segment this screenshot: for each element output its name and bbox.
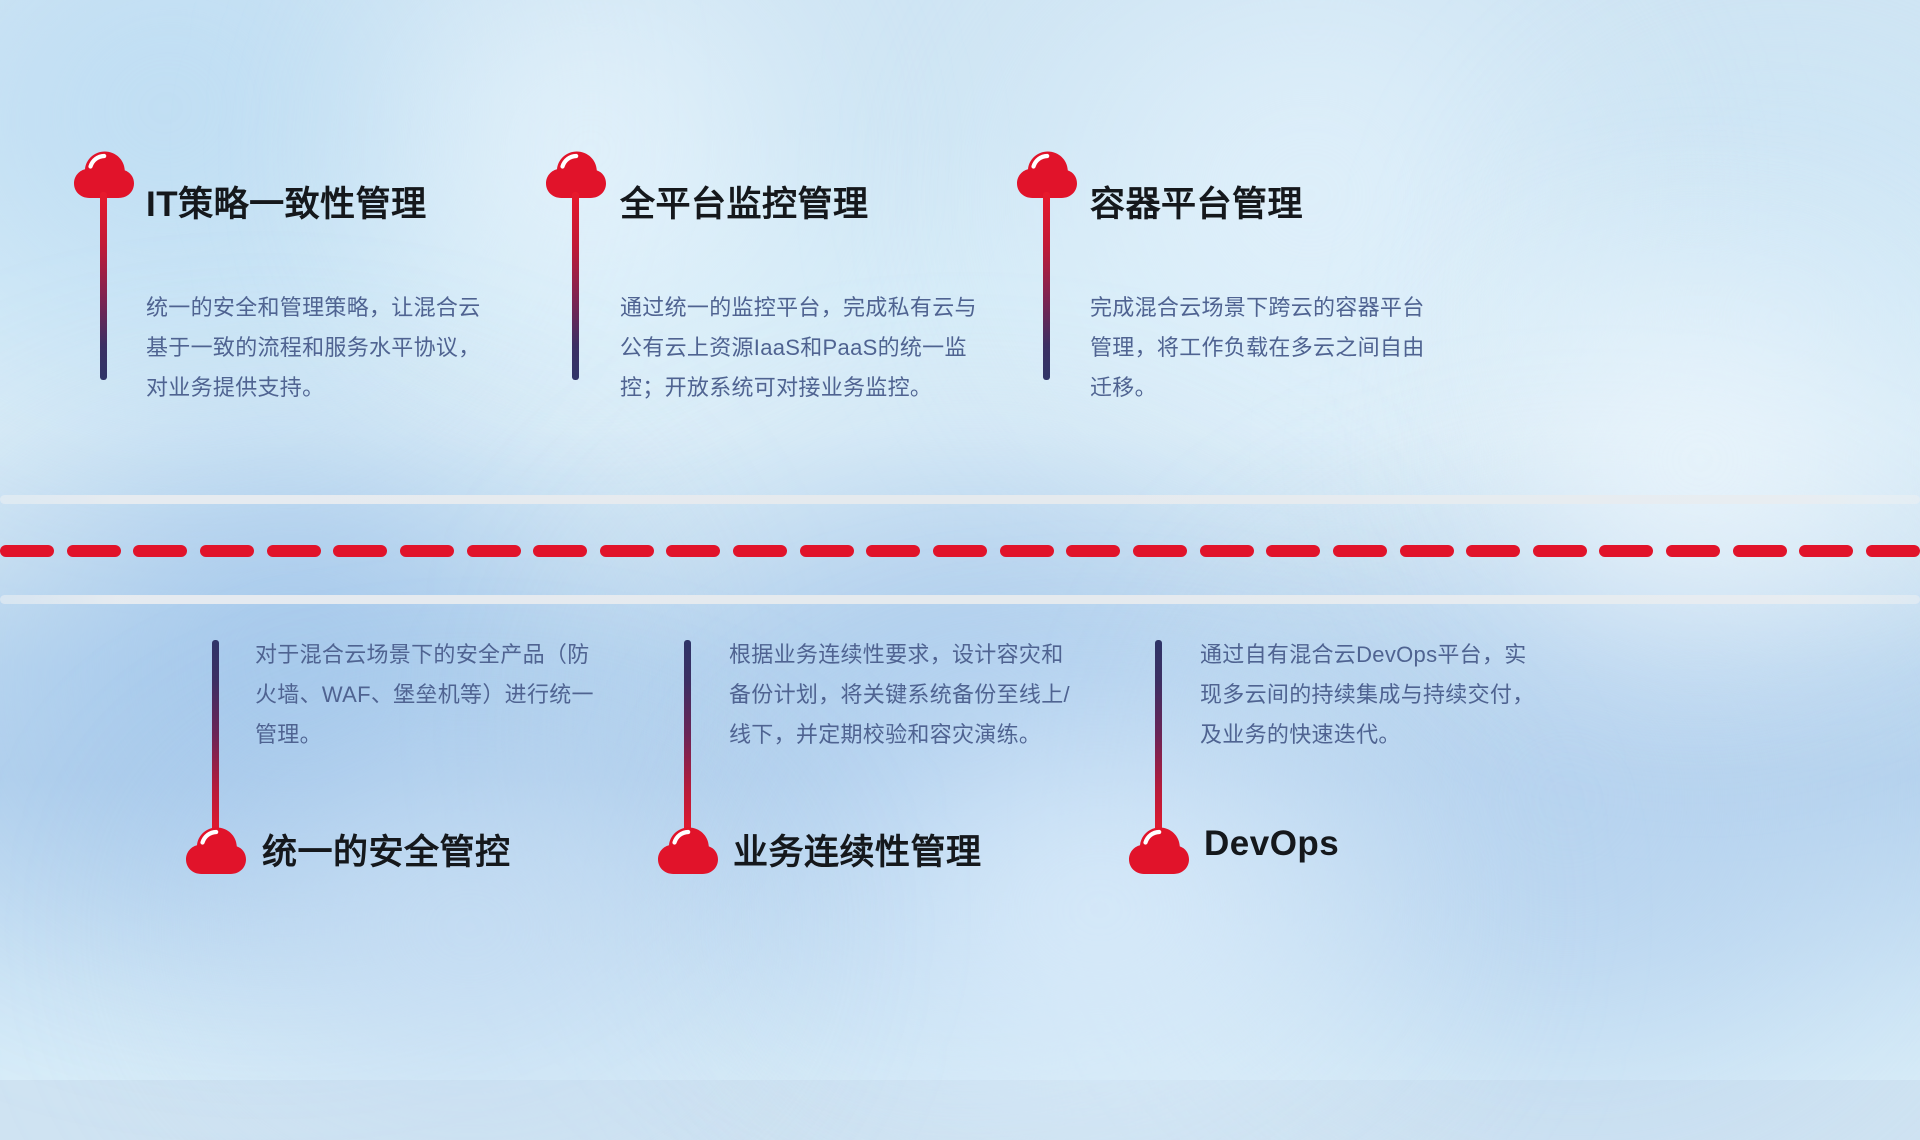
divider-dash (0, 545, 54, 557)
divider-dash (1333, 545, 1387, 557)
divider-dash (1866, 545, 1920, 557)
divider-rule-top (0, 495, 1920, 504)
heading-business-continuity-management: 业务连续性管理 (733, 824, 982, 875)
divider-dash (1266, 545, 1320, 557)
divider-dash (933, 545, 987, 557)
divider-dash (1200, 545, 1254, 557)
cloud-icon (185, 826, 247, 876)
heading-unified-security-control: 统一的安全管控 (262, 824, 511, 875)
cloud-icon (657, 826, 719, 876)
divider-dash (1133, 545, 1187, 557)
divider-dash (133, 545, 187, 557)
marker-stem (572, 192, 579, 380)
marker-stem (684, 640, 691, 838)
divider-dash (67, 545, 121, 557)
marker-stem (100, 192, 107, 380)
divider-dash (200, 545, 254, 557)
infographic-stage: IT策略一致性管理 统一的安全和管理策略，让混合云基于一致的流程和服务水平协议，… (0, 0, 1920, 1080)
divider-dash (800, 545, 854, 557)
description-devops: 通过自有混合云DevOps平台，实现多云间的持续集成与持续交付，及业务的快速迭代… (1200, 635, 1545, 755)
description-container-platform-management: 完成混合云场景下跨云的容器平台管理，将工作负载在多云之间自由迁移。 (1090, 288, 1445, 408)
heading-devops: DevOps (1204, 824, 1339, 864)
heading-full-platform-monitoring: 全平台监控管理 (620, 176, 869, 227)
divider-dash (1599, 545, 1653, 557)
description-full-platform-monitoring: 通过统一的监控平台，完成私有云与公有云上资源IaaS和PaaS的统一监控；开放系… (620, 288, 980, 408)
description-business-continuity-management: 根据业务连续性要求，设计容灾和备份计划，将关键系统备份至线上/线下，并定期校验和… (729, 635, 1074, 755)
divider-dash (1666, 545, 1720, 557)
divider-dash (666, 545, 720, 557)
divider-dash (533, 545, 587, 557)
description-it-policy-consistency: 统一的安全和管理策略，让混合云基于一致的流程和服务水平协议，对业务提供支持。 (146, 288, 501, 408)
heading-it-policy-consistency: IT策略一致性管理 (146, 176, 427, 227)
divider-dash (1533, 545, 1587, 557)
divider-dash (400, 545, 454, 557)
divider-dash (333, 545, 387, 557)
divider-dash (733, 545, 787, 557)
divider-dash (1733, 545, 1787, 557)
divider-dash (600, 545, 654, 557)
divider-dashed-line (0, 545, 1920, 557)
marker-stem (212, 640, 219, 838)
divider-dash (267, 545, 321, 557)
divider-dash (1000, 545, 1054, 557)
divider-dash (1466, 545, 1520, 557)
cloud-icon (1128, 826, 1190, 876)
divider-dash (1400, 545, 1454, 557)
description-unified-security-control: 对于混合云场景下的安全产品（防火墙、WAF、堡垒机等）进行统一管理。 (255, 635, 600, 755)
divider-dash (866, 545, 920, 557)
heading-container-platform-management: 容器平台管理 (1090, 176, 1303, 227)
divider-dash (1066, 545, 1120, 557)
marker-stem (1043, 192, 1050, 380)
divider-rule-bottom (0, 595, 1920, 604)
divider-dash (467, 545, 521, 557)
divider-dash (1799, 545, 1853, 557)
marker-stem (1155, 640, 1162, 838)
